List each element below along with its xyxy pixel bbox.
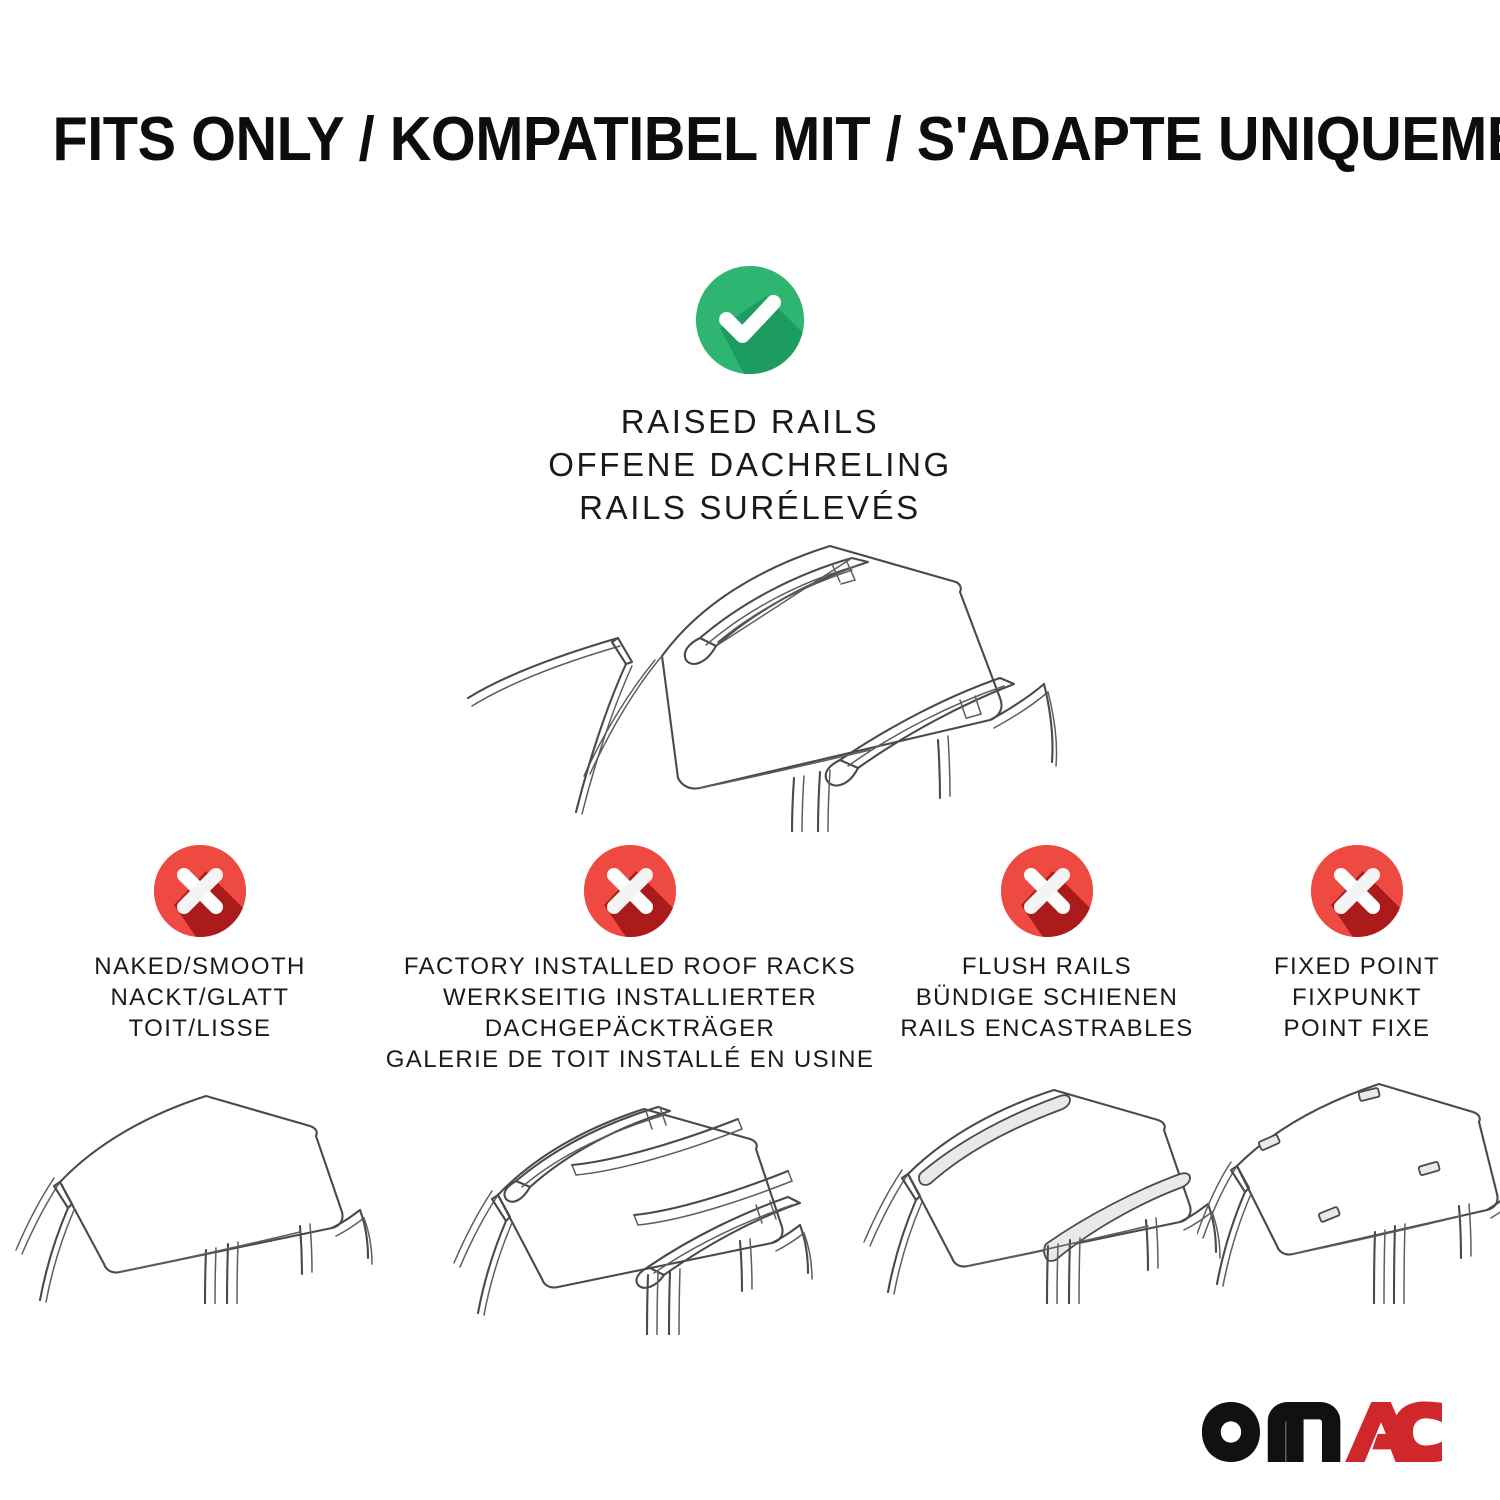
compatible-line-1: RAISED RAILS [548, 400, 952, 443]
incompatible-caption: FLUSH RAILS BÜNDIGE SCHIENEN RAILS ENCAS… [900, 951, 1193, 1044]
caption-line-1: NAKED/SMOOTH [94, 951, 305, 982]
caption-line-1: FIXED POINT [1274, 951, 1440, 982]
caption-line-3: POINT FIXE [1274, 1013, 1440, 1044]
incompatible-section: NAKED/SMOOTH NACKT/GLATT TOIT/LISSE [0, 845, 1500, 1365]
incompatible-item-fixed-point: FIXED POINT FIXPUNKT POINT FIXE [1212, 845, 1500, 1304]
caption-line-2: NACKT/GLATT [94, 982, 305, 1013]
incompatible-caption: FACTORY INSTALLED ROOF RACKS WERKSEITIG … [386, 951, 875, 1075]
incompatible-item-factory-racks: FACTORY INSTALLED ROOF RACKS WERKSEITIG … [380, 845, 880, 1335]
incompatible-caption: NAKED/SMOOTH NACKT/GLATT TOIT/LISSE [94, 951, 305, 1044]
check-circle-icon [696, 266, 804, 374]
incompatible-item-naked-smooth: NAKED/SMOOTH NACKT/GLATT TOIT/LISSE [10, 845, 390, 1304]
x-circle-icon [154, 845, 246, 937]
car-roof-raised-rails-illustration [400, 512, 1100, 832]
fitment-infographic: FITS ONLY / KOMPATIBEL MIT / S'ADAPTE UN… [0, 0, 1500, 1500]
car-roof-flush-rails-illustration [862, 1054, 1232, 1304]
caption-line-2: WERKSEITIG INSTALLIERTER [386, 982, 875, 1013]
incompatible-item-flush-rails: FLUSH RAILS BÜNDIGE SCHIENEN RAILS ENCAS… [872, 845, 1222, 1304]
caption-line-3: TOIT/LISSE [94, 1013, 305, 1044]
car-roof-naked-illustration [10, 1054, 390, 1304]
caption-line-3: DACHGEPÄCKTRÄGER [386, 1013, 875, 1044]
x-circle-icon [1001, 845, 1093, 937]
caption-line-3: RAILS ENCASTRABLES [900, 1013, 1193, 1044]
caption-line-2: BÜNDIGE SCHIENEN [900, 982, 1193, 1013]
omac-logo [1200, 1400, 1442, 1462]
caption-line-4: GALERIE DE TOIT INSTALLÉ EN USINE [386, 1044, 875, 1075]
x-circle-icon [1311, 845, 1403, 937]
compatible-section: RAISED RAILS OFFENE DACHRELING RAILS SUR… [0, 266, 1500, 529]
caption-line-1: FACTORY INSTALLED ROOF RACKS [386, 951, 875, 982]
car-roof-factory-racks-illustration [420, 1085, 840, 1335]
car-roof-fixed-point-illustration [1197, 1054, 1500, 1304]
incompatible-caption: FIXED POINT FIXPUNKT POINT FIXE [1274, 951, 1440, 1044]
page-title: FITS ONLY / KOMPATIBEL MIT / S'ADAPTE UN… [53, 104, 1448, 175]
compatible-line-2: OFFENE DACHRELING [548, 443, 952, 486]
caption-line-2: FIXPUNKT [1274, 982, 1440, 1013]
caption-line-1: FLUSH RAILS [900, 951, 1193, 982]
x-circle-icon [584, 845, 676, 937]
compatible-caption: RAISED RAILS OFFENE DACHRELING RAILS SUR… [548, 400, 952, 529]
